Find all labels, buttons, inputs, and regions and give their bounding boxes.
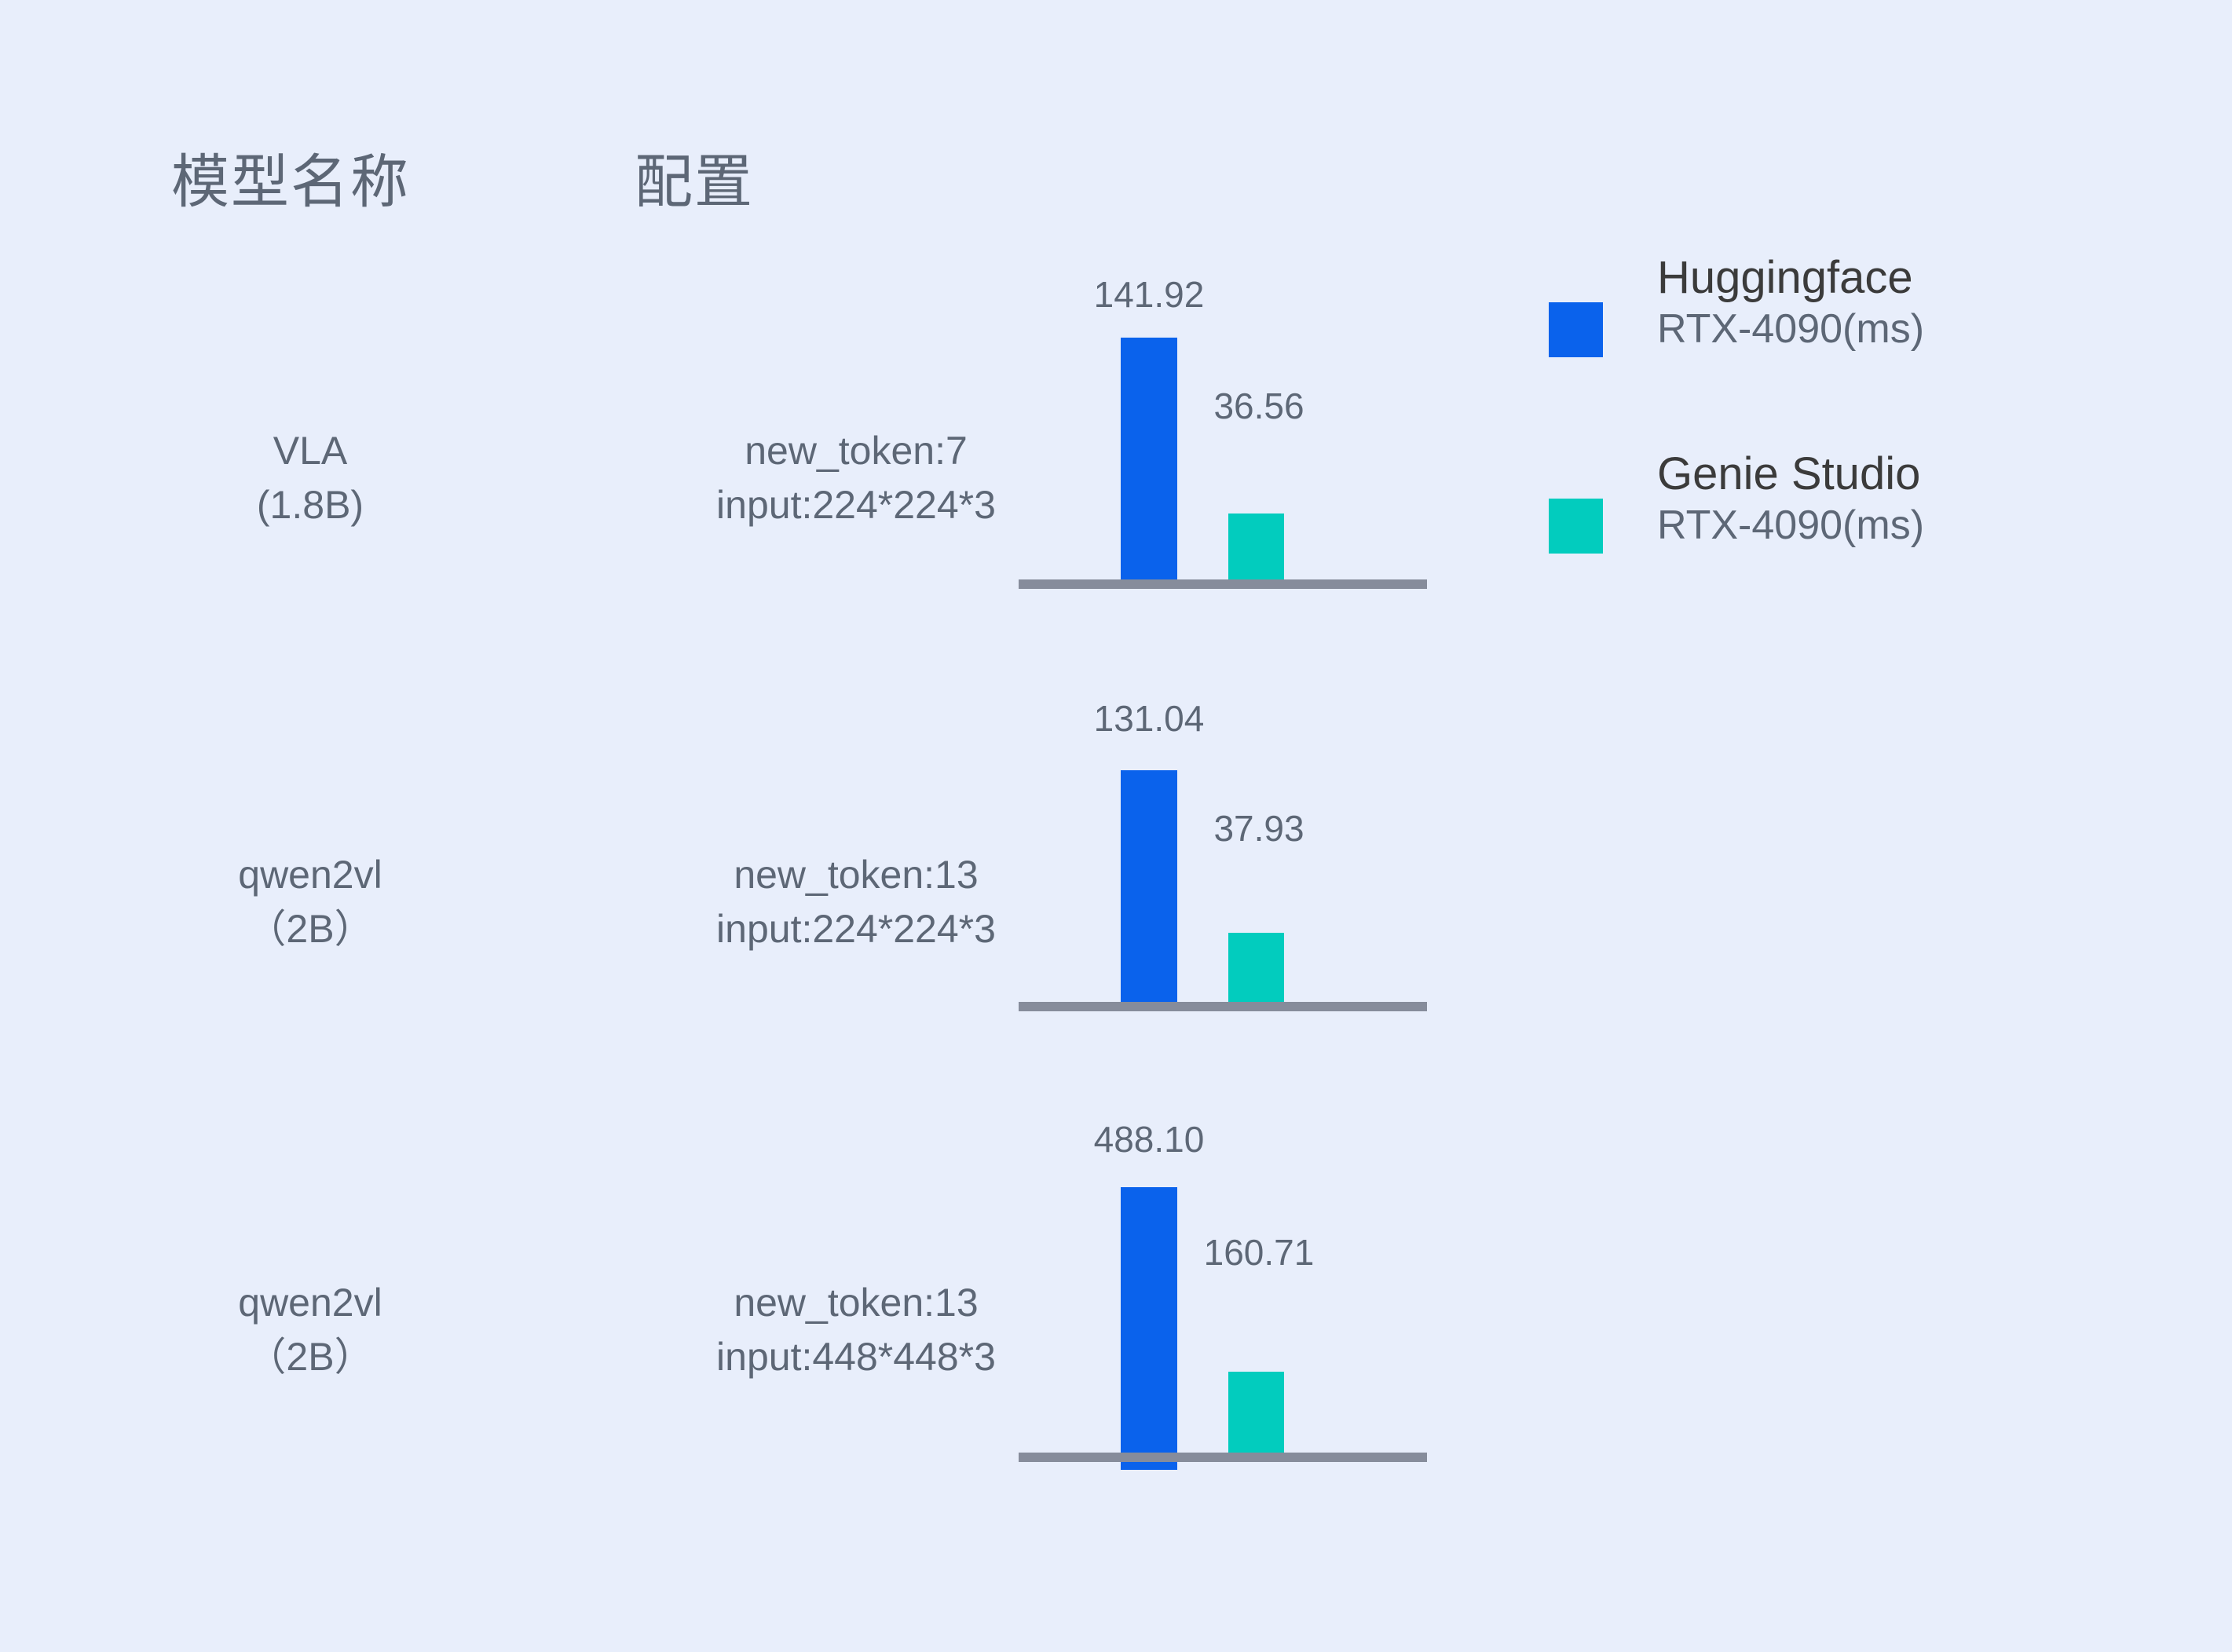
legend-subtitle: RTX-4090(ms) <box>1657 501 2160 550</box>
chart-baseline <box>1019 1002 1427 1011</box>
bar-value-label-genie-studio: 160.71 <box>1185 1231 1333 1274</box>
bar-value-label-huggingface: 141.92 <box>1075 273 1223 316</box>
model-name-cell: qwen2vl （2B） <box>149 1276 471 1384</box>
model-name-cell: VLA (1.8B) <box>149 424 471 532</box>
chart-baseline <box>1019 1453 1427 1462</box>
benchmark-comparison-chart: 模型名称 配置 VLA (1.8B) new_token:7 input:224… <box>0 0 2232 1652</box>
bar-value-label-huggingface: 488.10 <box>1075 1118 1223 1160</box>
model-name-line-1: qwen2vl <box>149 1276 471 1330</box>
chart-baseline <box>1019 579 1427 589</box>
bar-chart-row-3: 488.10 160.71 <box>1019 1107 1427 1478</box>
bar-huggingface <box>1121 1187 1177 1470</box>
bar-value-label-genie-studio: 36.56 <box>1185 385 1333 427</box>
legend-title: Huggingface <box>1657 251 2160 305</box>
model-name-line-1: qwen2vl <box>149 848 471 902</box>
model-name-line-2: （2B） <box>149 902 471 956</box>
bar-value-label-genie-studio: 37.93 <box>1185 807 1333 850</box>
bar-genie-studio <box>1228 1372 1284 1462</box>
model-name-line-1: VLA <box>149 424 471 478</box>
bar-chart-row-1: 141.92 36.56 <box>1019 259 1427 589</box>
bar-value-label-huggingface: 131.04 <box>1075 697 1223 740</box>
column-header-config: 配置 <box>635 135 754 219</box>
bar-chart-row-2: 131.04 37.93 <box>1019 682 1427 1011</box>
legend-subtitle: RTX-4090(ms) <box>1657 305 2160 353</box>
column-header-model-name: 模型名称 <box>171 135 410 219</box>
model-name-line-2: （2B） <box>149 1330 471 1384</box>
model-name-line-2: (1.8B) <box>149 478 471 532</box>
legend-title: Genie Studio <box>1657 448 2160 501</box>
model-name-cell: qwen2vl （2B） <box>149 848 471 956</box>
bar-huggingface <box>1121 338 1177 579</box>
bar-huggingface <box>1121 770 1177 1002</box>
genie-studio-color-swatch <box>1549 499 1603 554</box>
huggingface-color-swatch <box>1549 302 1603 357</box>
legend-text-genie-studio: Genie Studio RTX-4090(ms) <box>1657 448 2160 550</box>
bar-genie-studio <box>1228 933 1284 1002</box>
bar-genie-studio <box>1228 514 1284 579</box>
legend-item-genie-studio: Genie Studio RTX-4090(ms) <box>1539 448 2168 628</box>
legend-text-huggingface: Huggingface RTX-4090(ms) <box>1657 251 2160 354</box>
legend-item-huggingface: Huggingface RTX-4090(ms) <box>1539 251 2168 432</box>
